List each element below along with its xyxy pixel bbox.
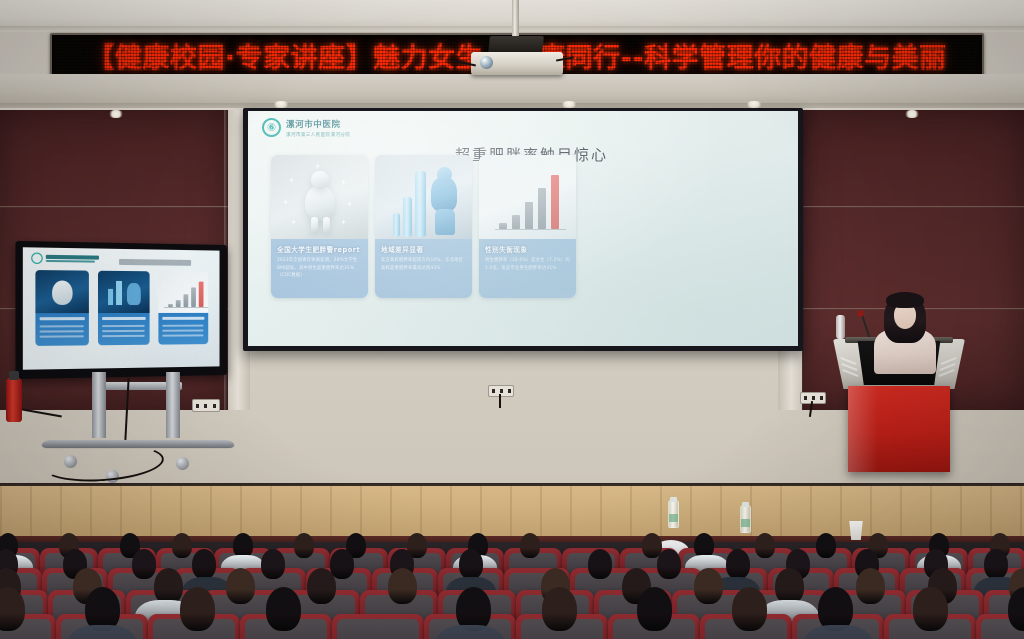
audience-member-head	[856, 568, 885, 604]
audience-member-head	[588, 549, 612, 579]
audience-member-head	[755, 533, 775, 558]
card-1-image-obese-figure	[271, 155, 368, 239]
podium-highlight	[848, 386, 878, 472]
audience-member-head	[694, 568, 723, 604]
chart-axis	[164, 307, 208, 308]
card-3-caption-body: 男生肥胖率（18.6%）是女生（7.2%）的2.6倍，电竞专业男生肥胖率达41%	[485, 257, 570, 272]
projection-screen: ⑥ 漯河市中医院 漯河市第三人民医院漯河分院 超重肥胖率触目惊心	[248, 111, 798, 346]
audience-area	[0, 486, 1024, 639]
audience-seat	[332, 614, 424, 639]
audience-member-head	[657, 549, 681, 579]
audience-member-head	[694, 533, 714, 558]
tv-card-2-image	[98, 271, 150, 313]
chart-bar-2016	[512, 215, 520, 229]
tv-stand-caster-2	[176, 457, 189, 470]
card-1-caption-body: 2023年全国青年体质监测，28%大学生BMI超标，其中男生超重肥胖率达31%（…	[277, 257, 362, 280]
chart-bar-2019	[525, 202, 533, 229]
audience-member-head	[456, 587, 491, 631]
audience-member-head	[233, 533, 253, 558]
slide-logo: ⑥ 漯河市中医院 漯河市第三人民医院漯河分院	[262, 118, 350, 138]
ceiling-downlight-3	[745, 101, 763, 108]
audience-member-head	[984, 549, 1008, 579]
audience-member-head	[307, 568, 336, 604]
slide-card-3: 性别失衡现象 男生肥胖率（18.6%）是女生（7.2%）的2.6倍，电竞专业男生…	[479, 155, 576, 298]
card-3-caption: 性别失衡现象 男生肥胖率（18.6%）是女生（7.2%）的2.6倍，电竞专业男生…	[479, 239, 576, 298]
tv-card-1-caption	[35, 313, 88, 346]
card-1-caption-title: 全国大学生肥胖警report	[277, 244, 362, 254]
card-2-caption-title: 地域差异显著	[381, 244, 466, 254]
chart-bar-2023	[199, 282, 204, 307]
slide-logo-subtitle: 漯河市第三人民医院漯河分院	[286, 132, 350, 138]
chart-bar-2021	[191, 287, 196, 307]
audience-member-head	[726, 549, 750, 579]
chart-bar-2016	[176, 300, 181, 307]
audience-member-head	[775, 568, 804, 604]
audience-member-head	[294, 533, 314, 558]
tv-slide-title	[119, 259, 191, 266]
fire-extinguisher	[6, 378, 22, 422]
audience-member-head	[913, 587, 948, 631]
audience-member-head	[132, 549, 156, 579]
wall-power-socket-1[interactable]	[488, 385, 514, 397]
audience-member-head	[542, 587, 577, 631]
projector-mount-rod	[512, 0, 519, 38]
audience-member-head	[180, 587, 215, 631]
card-2-caption-body: 北方高校肥胖率超南方约10%，东北地区高校超重肥胖率最高达到43%	[381, 257, 466, 272]
tv-slide-logo	[31, 253, 99, 265]
chart-axis	[495, 229, 566, 230]
audience-member-head	[85, 587, 120, 631]
slide-logo-mark: ⑥	[262, 118, 281, 137]
wall-power-socket-3[interactable]	[192, 399, 220, 412]
audience-member-head	[459, 549, 483, 579]
ceiling-downlight-1	[272, 101, 290, 108]
chart-bar-2019	[183, 294, 188, 307]
water-bottle-2	[668, 500, 679, 528]
ceiling-downlight-2	[560, 101, 578, 108]
audience-member-head	[520, 533, 540, 558]
wall-power-socket-2[interactable]	[800, 392, 826, 404]
card-1-caption: 全国大学生肥胖警report 2023年全国青年体质监测，28%大学生BMI超标…	[271, 239, 368, 298]
audience-member-head	[388, 568, 417, 604]
tv-card-3-image	[158, 271, 208, 313]
ceiling-downlight-4	[904, 110, 920, 118]
card-2-image-blue-columns	[375, 155, 472, 239]
audience-member-head	[172, 533, 192, 558]
chart-bar-2021	[538, 188, 546, 229]
audience-member-head	[818, 587, 853, 631]
water-bottle-1	[740, 505, 751, 533]
card-3-image-bar-chart	[479, 155, 576, 239]
audience-member-head	[154, 568, 183, 604]
audience-member-head	[192, 549, 216, 579]
projector-lens	[480, 56, 493, 69]
tv-card-3	[158, 271, 208, 344]
presenter-fringe	[886, 292, 924, 308]
card-3-caption-title: 性别失衡现象	[485, 244, 570, 254]
audience-member-head	[732, 587, 767, 631]
ceiling-downlight-5	[108, 110, 124, 118]
audience-member-head	[816, 533, 836, 558]
socket-cable-1	[499, 394, 501, 408]
slide-logo-name: 漯河市中医院	[286, 118, 350, 130]
audience-member-head	[261, 549, 285, 579]
audience-member-head	[266, 587, 301, 631]
slide-card-2: 地域差异显著 北方高校肥胖率超南方约10%，东北地区高校超重肥胖率最高达到43%	[375, 155, 472, 298]
tv-monitor-screen	[23, 247, 220, 370]
chart-bar-2023	[551, 175, 559, 229]
tv-card-1	[35, 270, 88, 346]
tv-card-1-image	[35, 270, 88, 313]
podium-water-bottle	[836, 315, 845, 339]
audience-member-head	[330, 549, 354, 579]
podium-microphone-head	[857, 310, 864, 317]
tv-stand-post-right	[166, 372, 180, 438]
tv-card-2	[98, 271, 150, 346]
audience-member-head	[637, 587, 672, 631]
tv-card-2-caption	[98, 313, 150, 345]
lecture-hall-photo: 【健康校园·专家讲座】魅力女生，健康同行--科学管理你的健康与美丽	[0, 0, 1024, 639]
tv-stand-post-left	[92, 372, 106, 438]
slide-card-1: 全国大学生肥胖警report 2023年全国青年体质监测，28%大学生BMI超标…	[271, 155, 368, 298]
card-2-caption: 地域差异显著 北方高校肥胖率超南方约10%，东北地区高校超重肥胖率最高达到43%	[375, 239, 472, 298]
fire-extinguisher-valve	[9, 371, 19, 380]
audience-member-head	[226, 568, 255, 604]
tv-card-3-caption	[158, 313, 208, 345]
